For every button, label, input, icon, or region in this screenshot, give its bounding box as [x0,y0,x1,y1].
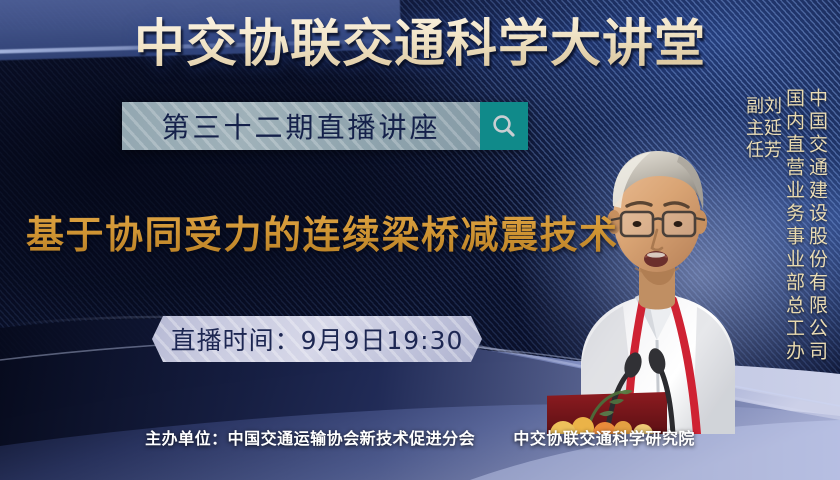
broadcast-time-label: 直播时间：9月9日19:30 [171,321,464,357]
search-icon [491,113,517,139]
speaker-info-vertical: 刘延芳 副主任 国内直营业务事业部总工办 中国交通建设股份有限公司 [744,88,826,364]
promo-poster: 中交协联交通科学大讲堂 第三十二期直播讲座 基于协同受力的连续梁桥减震技术 直播… [0,0,840,480]
speaker-photo [547,134,752,434]
subtitle-label: 第三十二期直播讲座 [161,106,440,146]
broadcast-time-badge: 直播时间：9月9日19:30 [152,316,482,362]
lecture-headline: 基于协同受力的连续梁桥减震技术 [26,204,619,259]
speaker-name: 刘延芳 [762,96,780,162]
speaker-name-column: 刘延芳 副主任 [744,96,780,162]
speaker-department: 国内直营业务事业部总工办 [784,88,803,364]
search-button[interactable] [480,102,528,150]
subtitle-bar: 第三十二期直播讲座 [122,102,528,150]
speaker-position: 副主任 [744,96,762,162]
subtitle-bar-fill: 第三十二期直播讲座 [122,102,480,150]
page-title: 中交协联交通科学大讲堂 [0,16,840,75]
speaker-company: 中国交通建设股份有限公司 [807,88,826,364]
footer-host-label: 主办单位：中国交通运输协会新技术促进分会 [145,429,475,448]
footer-institute-label: 中交协联交通科学研究院 [513,429,695,448]
footer-organizers: 主办单位：中国交通运输协会新技术促进分会 中交协联交通科学研究院 [0,425,840,449]
